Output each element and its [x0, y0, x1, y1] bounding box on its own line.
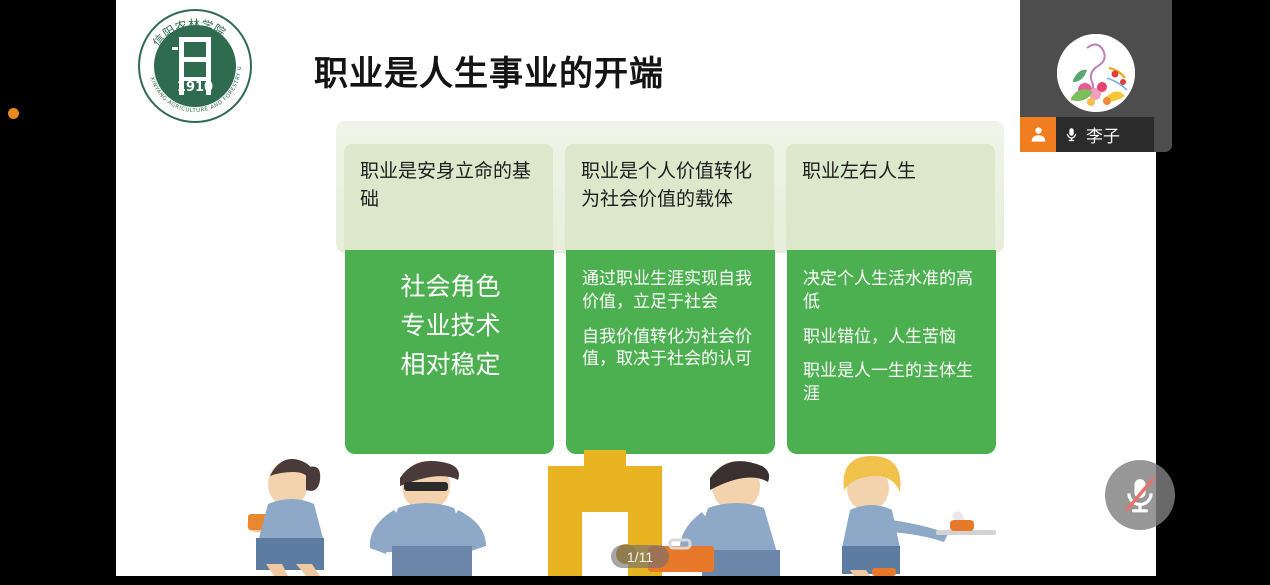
- detail-line: 决定个人生活水准的高低: [803, 268, 982, 314]
- heading-card-row: 职业是安身立命的基础 职业是个人价值转化为社会价值的载体 职业左右人生: [344, 144, 996, 250]
- page-indicator: 1/11: [611, 545, 669, 568]
- mute-toggle-button[interactable]: [1105, 460, 1175, 530]
- avatar: [1057, 34, 1135, 112]
- heading-card-3: 职业左右人生: [786, 144, 995, 250]
- heading-card-1: 职业是安身立命的基础: [344, 144, 553, 250]
- detail-card-row: 社会角色 专业技术 相对稳定 通过职业生涯实现自我价值，立足于社会 自我价值转化…: [345, 250, 997, 454]
- participant-footer: 李子: [1020, 117, 1154, 152]
- detail-line: 社会角色: [361, 268, 540, 307]
- participant-tile[interactable]: 李子: [1020, 0, 1172, 152]
- detail-line: 专业技术: [361, 307, 540, 346]
- person-icon: [1029, 125, 1048, 144]
- microphone-icon: [1064, 125, 1079, 144]
- microphone-muted-icon: [1121, 476, 1159, 514]
- university-logo-icon: 1910 XINYANG AGRICULTURE AND FORESTRY UN…: [136, 7, 254, 125]
- screen-root: 1910 XINYANG AGRICULTURE AND FORESTRY UN…: [0, 0, 1270, 585]
- detail-line: 相对稳定: [361, 346, 540, 385]
- heading-card-2: 职业是个人价值转化为社会价值的载体: [565, 144, 774, 250]
- status-dot: [8, 108, 19, 119]
- detail-card-3: 决定个人生活水准的高低 职业错位，人生苦恼 职业是人一生的主体生涯: [787, 250, 996, 454]
- detail-line: 职业错位，人生苦恼: [803, 326, 982, 349]
- detail-line: 自我价值转化为社会价值，取决于社会的认可: [582, 326, 761, 372]
- page-title: 职业是人生事业的开端: [314, 46, 664, 95]
- host-badge: [1020, 117, 1056, 152]
- detail-card-1: 社会角色 专业技术 相对稳定: [345, 250, 554, 454]
- detail-line: 职业是人一生的主体生涯: [803, 360, 982, 406]
- participant-namebar: 李子: [1056, 117, 1154, 152]
- svg-text:1910: 1910: [177, 80, 213, 95]
- detail-card-2: 通过职业生涯实现自我价值，立足于社会 自我价值转化为社会价值，取决于社会的认可: [566, 250, 775, 454]
- detail-line: 通过职业生涯实现自我价值，立足于社会: [582, 268, 761, 314]
- shared-slide: 1910 XINYANG AGRICULTURE AND FORESTRY UN…: [116, 0, 1156, 576]
- participant-name: 李子: [1086, 122, 1120, 147]
